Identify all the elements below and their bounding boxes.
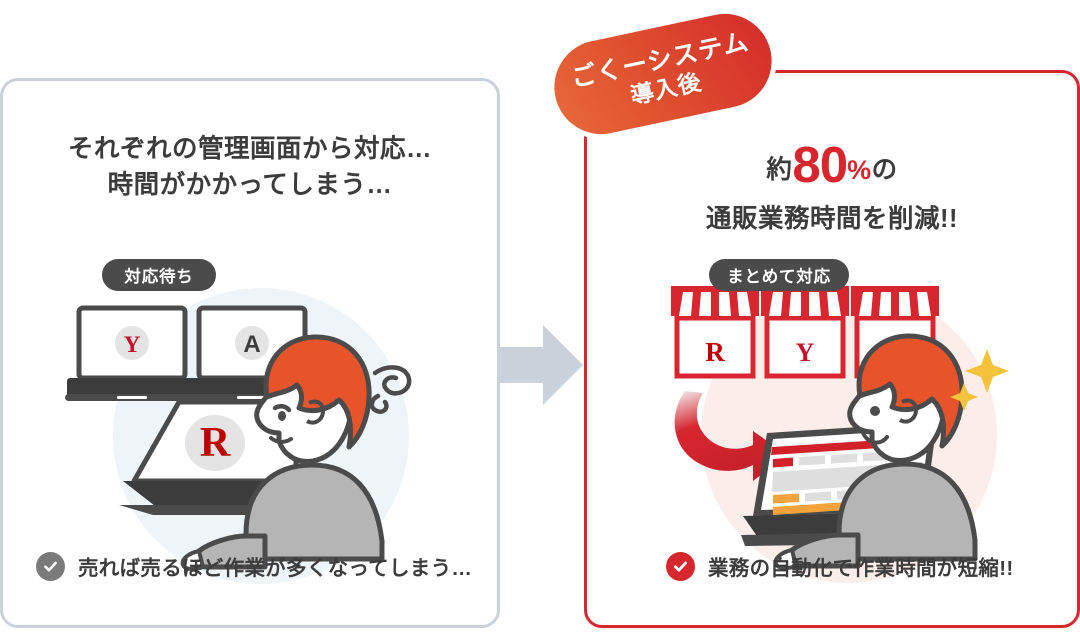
pill-label-after: まとめて対応 [709, 259, 849, 291]
before-footer: 売れば売るほど作業が多くなってしまう… [36, 551, 472, 581]
after-state-card: 約80%の 通販業務時間を削減!! R [584, 70, 1080, 628]
process-arrow [497, 323, 583, 407]
check-icon [36, 552, 65, 581]
laptop-y: Y [65, 308, 199, 401]
before-state-card: それぞれの管理画面から対応… 時間がかかってしまう… Y A [0, 78, 500, 628]
shop-r: R [671, 286, 759, 376]
pill-label-before: 対応待ち [102, 259, 216, 291]
after-illustration: R Y [587, 73, 1077, 625]
shop-y: Y [761, 286, 849, 376]
svg-text:Y: Y [796, 338, 815, 367]
before-footer-text: 売れば売るほど作業が多くなってしまう… [78, 551, 472, 581]
svg-text:A: A [243, 331, 260, 358]
check-icon [666, 552, 695, 581]
svg-text:R: R [705, 337, 725, 367]
svg-text:R: R [200, 420, 231, 466]
after-footer: 業務の自動化で作業時間が短縮!! [666, 551, 1013, 581]
svg-text:Y: Y [124, 332, 141, 357]
comparison-infographic: それぞれの管理画面から対応… 時間がかかってしまう… Y A [0, 0, 1080, 636]
after-footer-text: 業務の自動化で作業時間が短縮!! [708, 551, 1013, 581]
before-illustration: Y A R [3, 81, 497, 625]
